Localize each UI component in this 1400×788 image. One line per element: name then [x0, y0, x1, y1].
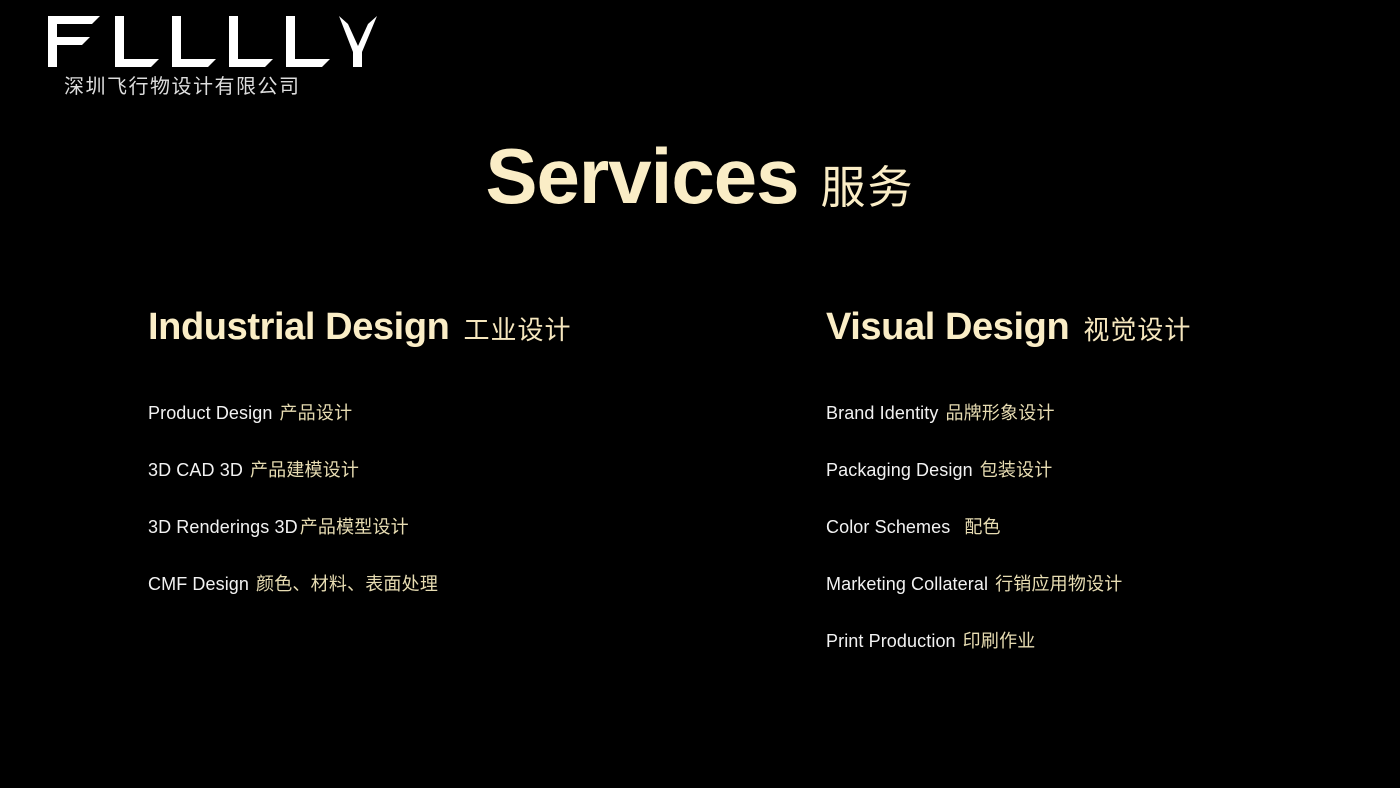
list-item: Color Schemes配色	[826, 517, 1386, 574]
service-label-zh: 品牌形象设计	[945, 403, 1054, 423]
service-label-zh: 产品建模设计	[250, 460, 359, 480]
slide-canvas: 深圳飞行物设计有限公司 Services服务 Industrial Design…	[0, 0, 1400, 788]
list-item: 3D CAD 3D产品建模设计	[148, 460, 768, 517]
service-label-zh: 颜色、材料、表面处理	[256, 574, 438, 594]
service-label-en: 3D Renderings 3D	[148, 517, 298, 537]
service-label-en: 3D CAD 3D	[148, 460, 243, 480]
services-column-industrial-design: Industrial Design工业设计 Product Design产品设计…	[148, 308, 768, 631]
column-heading: Industrial Design工业设计	[148, 308, 768, 346]
list-item: Product Design产品设计	[148, 403, 768, 460]
column-heading: Visual Design视觉设计	[826, 308, 1386, 346]
service-label-zh: 产品模型设计	[300, 517, 409, 537]
service-list: Product Design产品设计 3D CAD 3D产品建模设计 3D Re…	[148, 403, 768, 631]
list-item: Marketing Collateral行销应用物设计	[826, 574, 1386, 631]
service-label-zh: 产品设计	[279, 403, 352, 423]
flllly-wordmark-logo	[48, 16, 378, 68]
list-item: 3D Renderings 3D产品模型设计	[148, 517, 768, 574]
page-title: Services服务	[0, 131, 1400, 222]
service-label-en: Print Production	[826, 631, 956, 651]
service-label-en: Color Schemes	[826, 517, 950, 537]
service-list: Brand Identity品牌形象设计 Packaging Design包装设…	[826, 403, 1386, 688]
list-item: Packaging Design包装设计	[826, 460, 1386, 517]
service-label-en: CMF Design	[148, 574, 249, 594]
service-label-zh: 印刷作业	[963, 631, 1036, 651]
services-columns: Industrial Design工业设计 Product Design产品设计…	[0, 308, 1400, 728]
service-label-en: Packaging Design	[826, 460, 973, 480]
page-title-en: Services	[486, 132, 799, 220]
service-label-en: Brand Identity	[826, 403, 938, 423]
service-label-en: Marketing Collateral	[826, 574, 988, 594]
list-item: Print Production印刷作业	[826, 631, 1386, 688]
page-title-zh: 服务	[820, 162, 914, 213]
brand-subtitle: 深圳飞行物设计有限公司	[64, 74, 468, 100]
service-label-en: Product Design	[148, 403, 272, 423]
column-heading-zh: 工业设计	[463, 315, 571, 345]
list-item: Brand Identity品牌形象设计	[826, 403, 1386, 460]
column-heading-zh: 视觉设计	[1083, 315, 1191, 345]
service-label-zh: 包装设计	[980, 460, 1053, 480]
column-heading-en: Industrial Design	[148, 306, 449, 348]
services-column-visual-design: Visual Design视觉设计 Brand Identity品牌形象设计 P…	[826, 308, 1386, 688]
column-heading-en: Visual Design	[826, 306, 1069, 348]
brand-logo-block: 深圳飞行物设计有限公司	[48, 16, 468, 100]
service-label-zh: 行销应用物设计	[995, 574, 1122, 594]
list-item: CMF Design颜色、材料、表面处理	[148, 574, 768, 631]
service-label-zh: 配色	[964, 517, 1000, 537]
